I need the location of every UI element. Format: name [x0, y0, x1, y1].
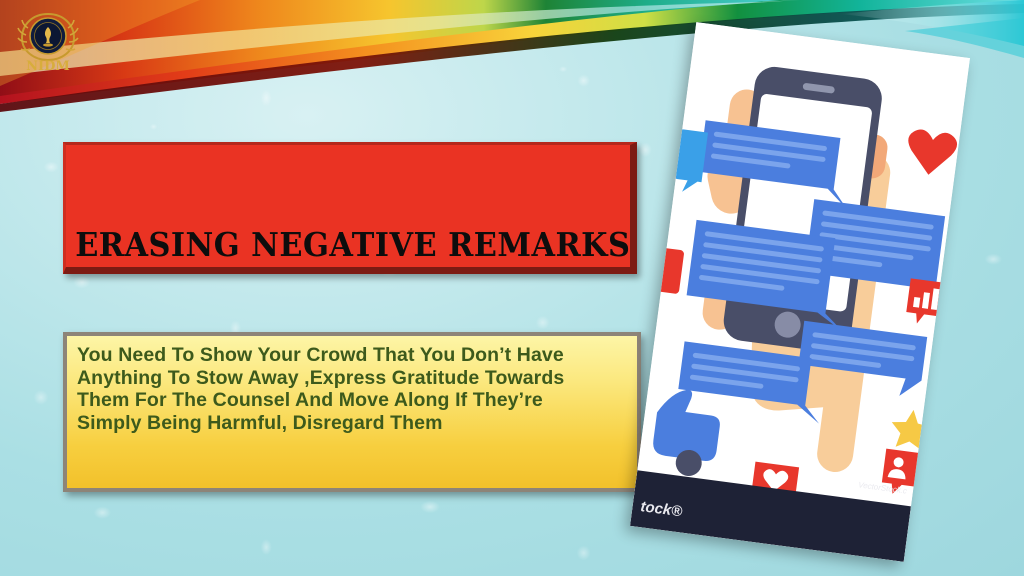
social-media-chat-illustration: tock® VectorStock.c [630, 22, 970, 562]
title-box: ERASING NEGATIVE REMARKS [63, 142, 637, 274]
illustration-container: tock® VectorStock.c [648, 28, 988, 576]
body-text: You Need To Show Your Crowd That You Don… [77, 344, 627, 434]
body-line: You Need To Show Your Crowd That You Don… [77, 344, 627, 367]
page-title: ERASING NEGATIVE REMARKS [66, 228, 630, 267]
body-line: Simply Being Harmful, Disregard Them [77, 412, 627, 435]
presentation-slide: NIDM ERASING NEGATIVE REMARKS You Need T… [0, 0, 1024, 576]
nidm-logo: NIDM [16, 8, 80, 74]
body-line: Anything To Stow Away ,Express Gratitude… [77, 367, 627, 390]
logo-wordmark: NIDM [26, 59, 70, 74]
illustration-artwork [630, 22, 970, 562]
red-tab-shape [651, 247, 685, 294]
body-text-box: You Need To Show Your Crowd That You Don… [63, 332, 641, 492]
body-line: Them For The Counsel And Move Along If T… [77, 389, 627, 412]
